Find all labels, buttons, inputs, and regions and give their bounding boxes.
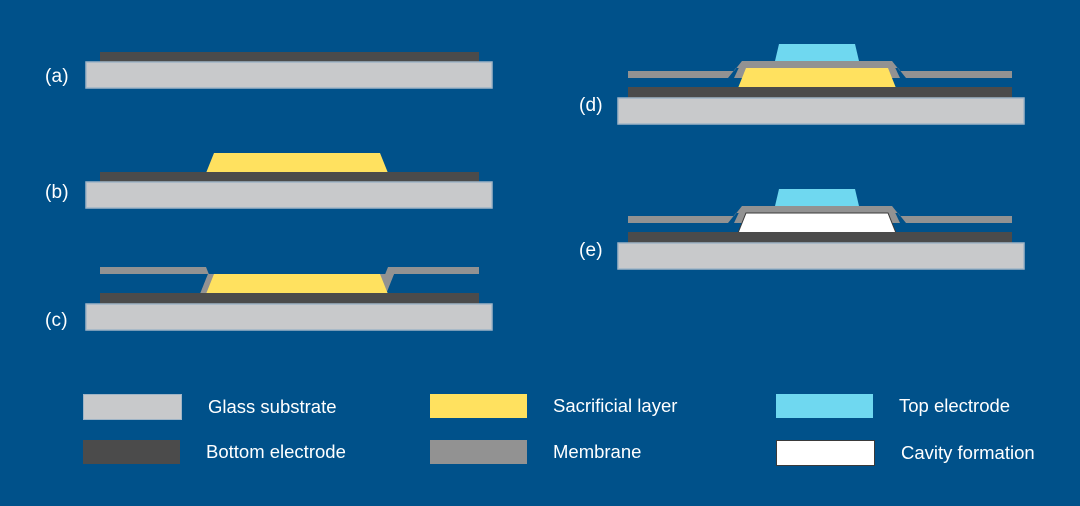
legend-label-membrane: Membrane xyxy=(553,441,641,463)
legend-item-glass-substrate: Glass substrate xyxy=(83,394,337,420)
cavity-formation xyxy=(738,213,896,233)
panel-c-cross-section xyxy=(84,262,504,352)
glass-substrate-layer xyxy=(86,304,492,330)
legend-label-cavity-formation: Cavity formation xyxy=(901,442,1035,464)
legend-label-glass-substrate: Glass substrate xyxy=(208,396,337,418)
legend-swatch-bottom-electrode xyxy=(83,440,180,464)
panel-label-c: (c) xyxy=(45,310,68,332)
panel-b-cross-section xyxy=(84,148,504,228)
legend-item-sacrificial-layer: Sacrificial layer xyxy=(430,394,677,418)
legend-label-bottom-electrode: Bottom electrode xyxy=(206,441,346,463)
legend-item-bottom-electrode: Bottom electrode xyxy=(83,440,346,464)
panel-d-cross-section xyxy=(616,36,1036,136)
top-electrode-layer xyxy=(775,189,859,206)
bottom-electrode-layer xyxy=(628,87,1012,99)
panel-e-cross-section xyxy=(616,181,1036,281)
bottom-electrode-layer xyxy=(100,293,479,305)
glass-substrate-layer xyxy=(86,62,492,88)
legend-item-membrane: Membrane xyxy=(430,440,641,464)
legend-item-cavity-formation: Cavity formation xyxy=(776,440,1035,466)
diagram-canvas: (a) (b) (c) (d) (e) xyxy=(0,0,1080,506)
legend-swatch-cavity-formation xyxy=(776,440,875,466)
panel-label-b: (b) xyxy=(45,182,69,204)
panel-a-cross-section xyxy=(84,48,504,108)
legend-label-top-electrode: Top electrode xyxy=(899,395,1010,417)
legend-swatch-membrane xyxy=(430,440,527,464)
bottom-electrode-layer xyxy=(628,232,1012,244)
legend-label-sacrificial-layer: Sacrificial layer xyxy=(553,395,677,417)
legend-swatch-top-electrode xyxy=(776,394,873,418)
glass-substrate-layer xyxy=(618,243,1024,269)
glass-substrate-layer xyxy=(86,182,492,208)
panel-label-e: (e) xyxy=(579,240,603,262)
panel-label-a: (a) xyxy=(45,66,69,88)
glass-substrate-layer xyxy=(618,98,1024,124)
sacrificial-layer xyxy=(206,274,388,294)
sacrificial-layer xyxy=(738,68,896,88)
panel-label-d: (d) xyxy=(579,95,603,117)
legend-swatch-glass-substrate xyxy=(83,394,182,420)
legend-item-top-electrode: Top electrode xyxy=(776,394,1010,418)
legend-swatch-sacrificial-layer xyxy=(430,394,527,418)
sacrificial-layer xyxy=(206,153,388,173)
top-electrode-layer xyxy=(775,44,859,61)
